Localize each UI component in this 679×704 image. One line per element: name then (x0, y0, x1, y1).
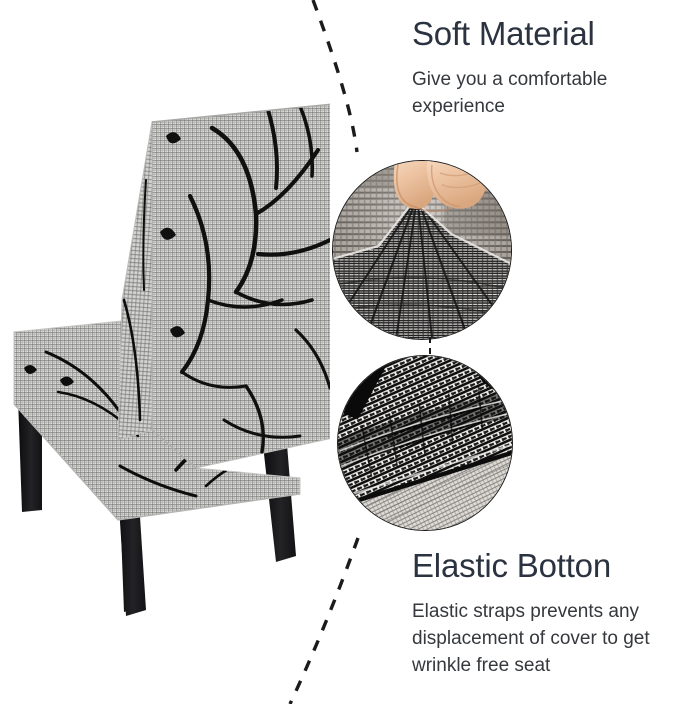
product-infographic-page: Soft Material Give you a comfortable exp… (0, 0, 679, 704)
body-elastic-botton: Elastic straps prevents any displacement… (412, 598, 670, 679)
chair-back-side (118, 122, 152, 440)
elastic-band-closeup (338, 356, 512, 530)
feature-block-soft-material: Soft Material Give you a comfortable exp… (412, 14, 670, 120)
feature-block-elastic-botton: Elastic Botton Elastic straps prevents a… (412, 546, 670, 679)
inset-connector-dashes (429, 337, 431, 357)
fabric-pinch-closeup (333, 161, 511, 339)
headline-soft-material: Soft Material (412, 14, 670, 54)
chair-back (152, 104, 330, 468)
body-soft-material: Give you a comfortable experience (412, 66, 670, 120)
inset-soft-material (332, 160, 512, 340)
inset-elastic-band (337, 355, 513, 531)
chair-illustration (0, 0, 330, 704)
chair-svg (0, 0, 330, 704)
headline-elastic-botton: Elastic Botton (412, 546, 670, 586)
